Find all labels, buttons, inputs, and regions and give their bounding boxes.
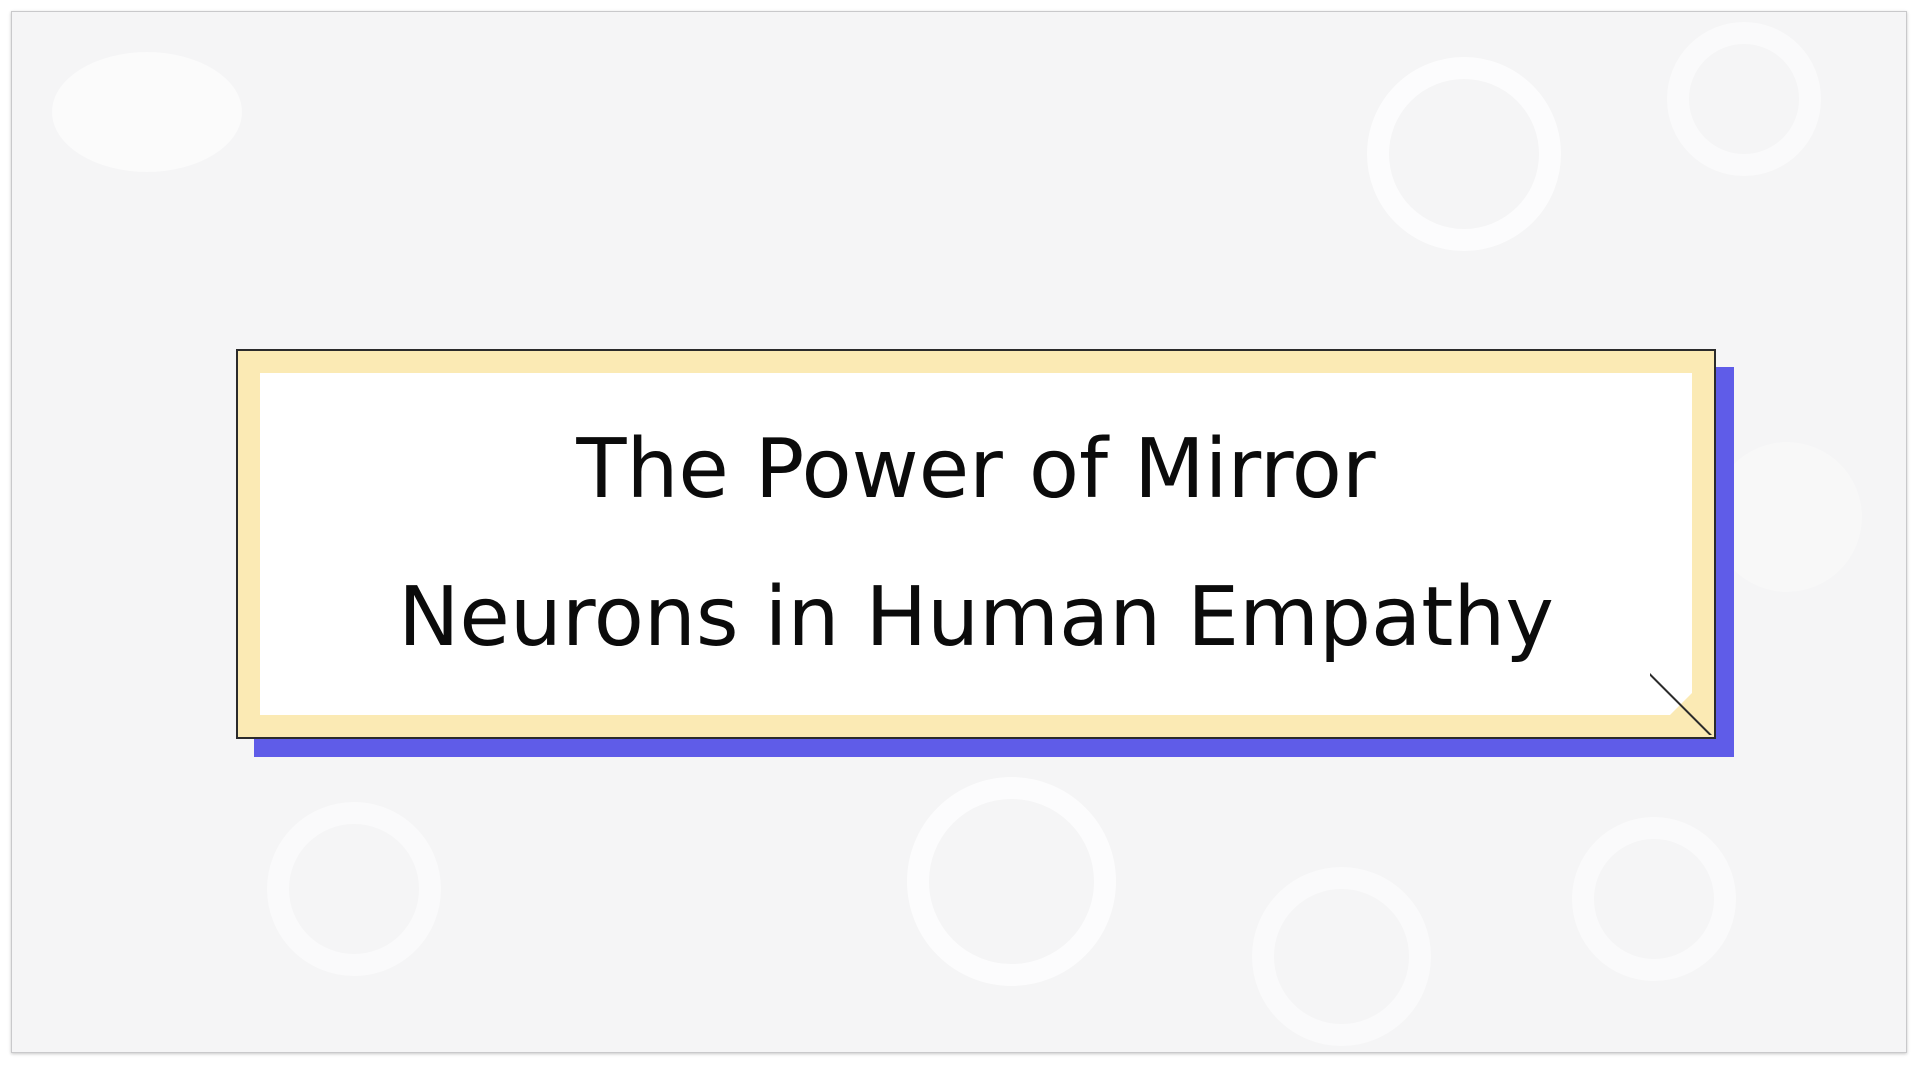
background-ring-watermark [1367,57,1561,251]
background-ring-watermark [1667,22,1821,176]
background-ring-watermark [1572,817,1736,981]
title-card-group[interactable]: The Power of Mirror Neurons in Human Emp… [236,349,1746,769]
background-ring-watermark [267,802,441,976]
title-card[interactable]: The Power of Mirror Neurons in Human Emp… [236,349,1716,739]
title-card-inner: The Power of Mirror Neurons in Human Emp… [260,373,1692,715]
background-blob-watermark [52,52,242,172]
slide-canvas: The Power of Mirror Neurons in Human Emp… [11,11,1907,1053]
slide-title-line-1: The Power of Mirror [576,429,1375,511]
background-ring-watermark [1252,867,1431,1046]
slide-title-line-2: Neurons in Human Empathy [398,577,1554,659]
background-ring-watermark [907,777,1116,986]
